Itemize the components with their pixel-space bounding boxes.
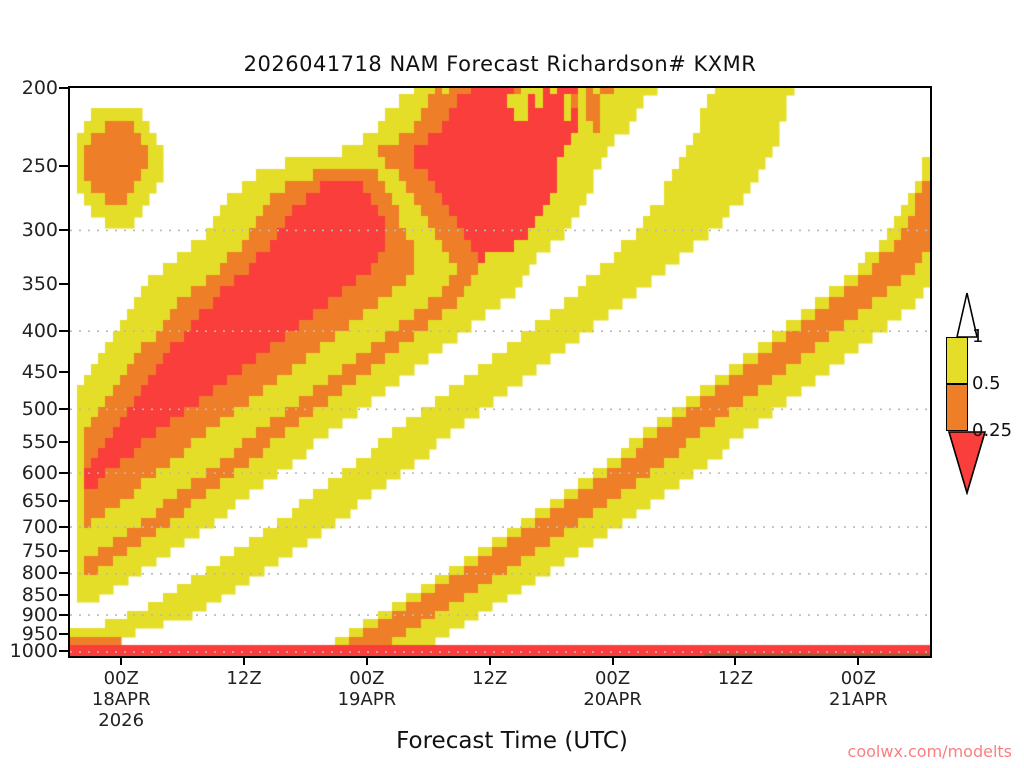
y-axis-tick-mark [59,283,68,285]
x-axis-tick-mark [243,656,245,665]
colorbar-label-0.25: 0.25 [972,420,1012,441]
y-axis-tick-mark [59,633,68,635]
y-axis-tick-label-400: 400 [2,320,58,342]
y-axis-tick-mark [59,441,68,443]
y-axis-tick-mark [59,526,68,528]
y-axis-tick-label-300: 300 [2,219,58,241]
y-axis-tick-mark [59,500,68,502]
y-axis-tick-label-1000: 1000 [2,640,58,662]
x-axis-tick-label-5: 12Z [675,668,795,689]
y-axis-tick-mark [59,229,68,231]
y-axis-tick-mark [59,408,68,410]
x-axis-tick-label-line-2: 21APR [798,689,918,710]
colorbar-label-0.5: 0.5 [972,373,1001,394]
x-axis-tick-mark [857,656,859,665]
y-axis-tick-label-850: 850 [2,584,58,606]
y-axis-tick-mark [59,87,68,89]
x-axis-tick-mark [734,656,736,665]
x-axis-tick-label-line-1: 12Z [675,668,795,689]
x-axis-tick-label-line-1: 00Z [307,668,427,689]
x-axis-tick-mark [489,656,491,665]
colorbar-segment-1-to-0.5 [946,337,968,384]
colorbar: 10.50.25 [938,292,1024,484]
x-axis-tick-label-line-1: 12Z [430,668,550,689]
x-axis-tick-label-6: 00Z21APR [798,668,918,710]
x-axis-tick-label-line-2: 18APR [61,689,181,710]
y-axis-tick-label-700: 700 [2,516,58,538]
y-axis-tick-label-600: 600 [2,462,58,484]
y-axis-tick-label-750: 750 [2,540,58,562]
y-axis-tick-label-200: 200 [2,77,58,99]
y-axis-tick-mark [59,472,68,474]
y-axis-tick-mark [59,594,68,596]
x-axis-tick-label-line-1: 00Z [798,668,918,689]
y-axis-tick-label-550: 550 [2,431,58,453]
y-axis-tick-label-250: 250 [2,155,58,177]
y-axis-tick-mark [59,330,68,332]
x-axis-tick-label-1: 12Z [184,668,304,689]
x-axis-tick-label-line-1: 00Z [553,668,673,689]
x-axis-tick-label-3: 12Z [430,668,550,689]
x-axis-tick-label-line-2: 19APR [307,689,427,710]
x-axis-tick-label-4: 00Z20APR [553,668,673,710]
x-axis-tick-label-line-1: 00Z [61,668,181,689]
chart-page: 2026041718 NAM Forecast Richardson# KXMR… [0,0,1024,768]
x-axis-tick-label-line-2: 20APR [553,689,673,710]
x-axis-tick-label-0: 00Z18APR2026 [61,668,181,731]
chart-title: 2026041718 NAM Forecast Richardson# KXMR [0,52,1024,76]
y-axis-tick-label-350: 350 [2,273,58,295]
y-axis-tick-mark [59,550,68,552]
gridlines [70,88,930,656]
x-axis-tick-label-line-1: 12Z [184,668,304,689]
x-axis-tick-mark [120,656,122,665]
y-axis-tick-mark [59,650,68,652]
x-axis-tick-mark [612,656,614,665]
x-axis-tick-mark [366,656,368,665]
y-axis-tick-mark [59,371,68,373]
y-axis-tick-label-800: 800 [2,562,58,584]
y-axis-tick-mark [59,572,68,574]
y-axis-tick-label-450: 450 [2,361,58,383]
y-axis-tick-label-650: 650 [2,490,58,512]
site-credit: coolwx.com/modelts [848,742,1012,761]
y-axis-tick-mark [59,165,68,167]
colorbar-label-1: 1 [972,326,983,347]
plot-area [68,86,932,658]
colorbar-segment-0.5-to-0.25 [946,384,968,431]
y-axis-tick-label-500: 500 [2,398,58,420]
chart-title-text: 2026041718 NAM Forecast Richardson# KXMR [244,52,757,76]
x-axis-tick-label-2: 00Z19APR [307,668,427,710]
y-axis-tick-mark [59,614,68,616]
